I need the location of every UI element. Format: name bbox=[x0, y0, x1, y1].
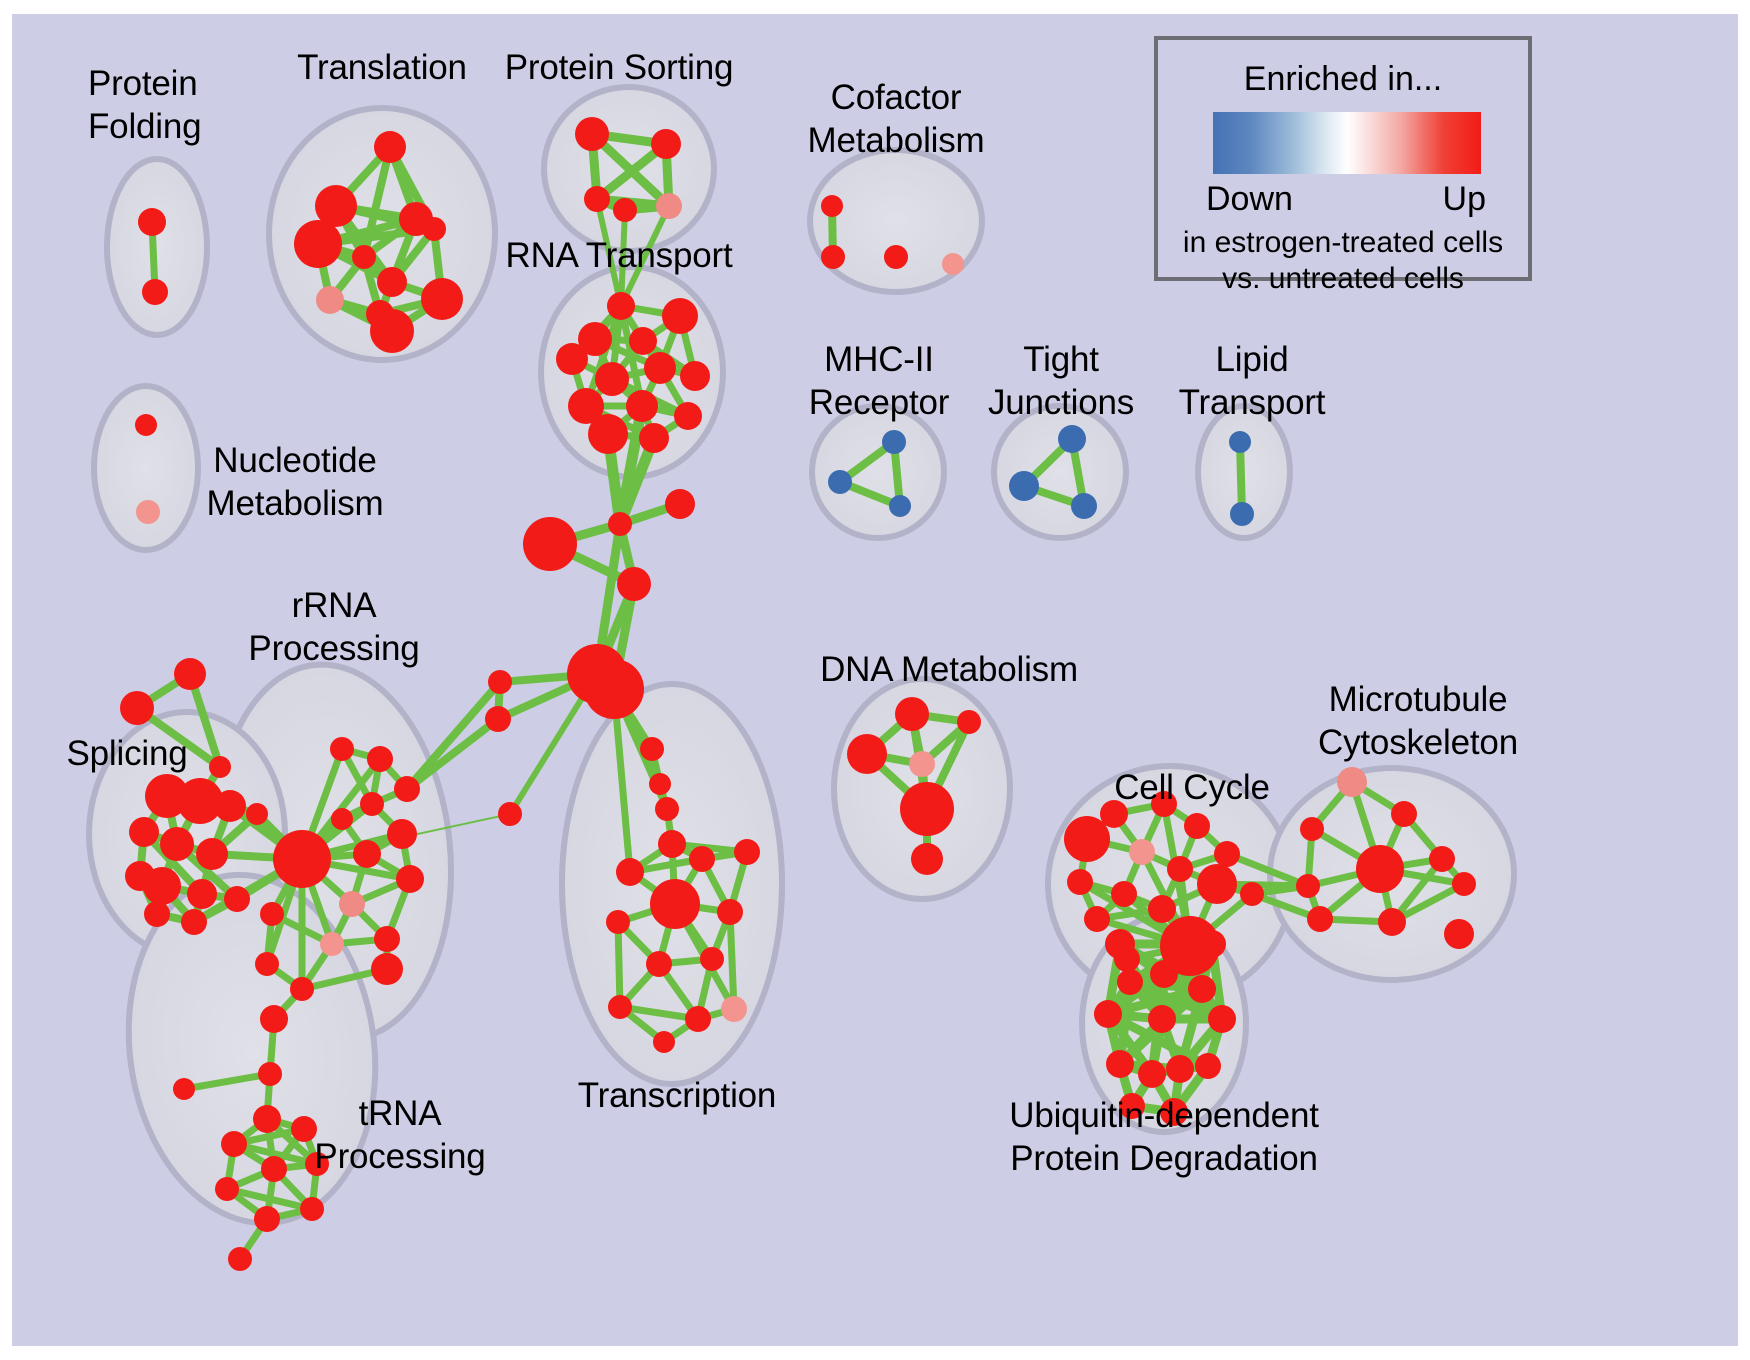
cluster-label-splicing: Splicing bbox=[67, 732, 188, 775]
node bbox=[608, 995, 632, 1019]
node bbox=[556, 343, 588, 375]
node bbox=[523, 517, 577, 571]
node bbox=[1064, 816, 1110, 862]
node bbox=[584, 186, 610, 212]
node bbox=[209, 756, 231, 778]
node bbox=[1188, 975, 1216, 1003]
node bbox=[616, 858, 644, 886]
node bbox=[942, 253, 964, 275]
node bbox=[1230, 502, 1254, 526]
node bbox=[224, 886, 250, 912]
node bbox=[221, 1131, 247, 1157]
node bbox=[689, 846, 715, 872]
node bbox=[821, 195, 843, 217]
node bbox=[339, 891, 365, 917]
node bbox=[658, 830, 686, 858]
node bbox=[1296, 874, 1320, 898]
node bbox=[1058, 425, 1086, 453]
node bbox=[136, 500, 160, 524]
node bbox=[488, 670, 512, 694]
node bbox=[316, 286, 344, 314]
node bbox=[300, 1197, 324, 1221]
cluster-label-ubiquitin-degradation: Ubiquitin-dependent Protein Degradation bbox=[1009, 1094, 1319, 1180]
node bbox=[261, 1156, 287, 1182]
cluster-label-translation: Translation bbox=[297, 46, 467, 89]
node bbox=[396, 865, 424, 893]
node bbox=[228, 1247, 252, 1271]
node bbox=[889, 495, 911, 517]
node bbox=[606, 910, 630, 934]
node bbox=[1429, 846, 1455, 872]
cluster-label-cofactor-metabolism: Cofactor Metabolism bbox=[808, 76, 985, 162]
node bbox=[142, 279, 168, 305]
node bbox=[821, 245, 845, 269]
node bbox=[1240, 882, 1264, 906]
node bbox=[1214, 841, 1240, 867]
node bbox=[291, 1116, 317, 1142]
node bbox=[882, 430, 906, 454]
legend-box: Enriched in... Down Up in estrogen-treat… bbox=[1154, 36, 1532, 281]
node bbox=[129, 817, 159, 847]
cluster-label-tight-junctions: Tight Junctions bbox=[988, 338, 1134, 424]
node bbox=[1009, 471, 1039, 501]
node bbox=[584, 659, 644, 719]
legend-subtitle-line2: vs. untreated cells bbox=[1158, 262, 1528, 296]
node bbox=[1150, 960, 1178, 988]
node bbox=[655, 797, 679, 821]
node bbox=[828, 470, 852, 494]
node bbox=[1229, 431, 1251, 453]
node bbox=[1184, 813, 1210, 839]
node bbox=[160, 827, 194, 861]
node bbox=[144, 901, 170, 927]
node bbox=[895, 697, 929, 731]
hull-nucleotide bbox=[94, 386, 198, 550]
cluster-label-dna-metabolism: DNA Metabolism bbox=[820, 648, 1078, 691]
node bbox=[258, 1062, 282, 1086]
node bbox=[290, 977, 314, 1001]
node bbox=[1444, 919, 1474, 949]
node bbox=[374, 926, 400, 952]
node bbox=[613, 198, 637, 222]
node bbox=[644, 352, 676, 384]
node bbox=[187, 879, 217, 909]
legend-subtitle-line1: in estrogen-treated cells bbox=[1158, 226, 1528, 260]
node bbox=[1208, 1005, 1236, 1033]
node bbox=[1378, 908, 1406, 936]
node bbox=[181, 909, 207, 935]
node bbox=[911, 843, 943, 875]
node bbox=[700, 947, 724, 971]
node bbox=[649, 773, 671, 795]
node bbox=[617, 567, 651, 601]
enrichment-map-figure: Protein Folding Translation Protein Sort… bbox=[0, 0, 1750, 1360]
node bbox=[1117, 969, 1143, 995]
hull-tight-junctions bbox=[994, 406, 1126, 538]
node bbox=[174, 658, 206, 690]
node bbox=[173, 1078, 195, 1100]
node bbox=[273, 830, 331, 888]
node bbox=[1106, 1050, 1134, 1078]
node bbox=[1067, 869, 1093, 895]
node bbox=[847, 734, 887, 774]
node bbox=[607, 292, 635, 320]
cluster-label-protein-folding: Protein Folding bbox=[88, 62, 201, 148]
node bbox=[320, 932, 344, 956]
legend-title: Enriched in... bbox=[1158, 60, 1528, 99]
node bbox=[422, 217, 446, 241]
node bbox=[626, 390, 658, 422]
node bbox=[1071, 493, 1097, 519]
node bbox=[138, 208, 166, 236]
node bbox=[1300, 817, 1324, 841]
node bbox=[650, 879, 700, 929]
legend-high-label: Up bbox=[1443, 180, 1486, 219]
node bbox=[1148, 1005, 1176, 1033]
legend-gradient-bar bbox=[1213, 112, 1481, 174]
node bbox=[884, 245, 908, 269]
cluster-label-cell-cycle: Cell Cycle bbox=[1114, 766, 1270, 809]
node bbox=[665, 489, 695, 519]
node bbox=[680, 361, 710, 391]
hull-protein-folding bbox=[107, 159, 207, 335]
node bbox=[387, 819, 417, 849]
cluster-label-protein-sorting: Protein Sorting bbox=[505, 46, 734, 89]
node bbox=[1337, 767, 1367, 797]
node bbox=[674, 402, 702, 430]
cluster-label-rrna-processing: rRNA Processing bbox=[248, 584, 419, 670]
node bbox=[370, 309, 414, 353]
node bbox=[135, 414, 157, 436]
node bbox=[330, 737, 354, 761]
node bbox=[639, 423, 669, 453]
node bbox=[1195, 1053, 1221, 1079]
node bbox=[1148, 895, 1176, 923]
node bbox=[1307, 906, 1333, 932]
node bbox=[1166, 1055, 1194, 1083]
node bbox=[331, 808, 353, 830]
node bbox=[734, 839, 760, 865]
node bbox=[421, 278, 463, 320]
node bbox=[1111, 881, 1137, 907]
node bbox=[367, 746, 393, 772]
node bbox=[1198, 930, 1226, 958]
node bbox=[653, 1031, 675, 1053]
node bbox=[1084, 906, 1110, 932]
node bbox=[957, 710, 981, 734]
node bbox=[1129, 839, 1155, 865]
node bbox=[900, 782, 954, 836]
node bbox=[651, 129, 681, 159]
node bbox=[498, 802, 522, 826]
node bbox=[640, 737, 664, 761]
node bbox=[255, 952, 279, 976]
cluster-label-nucleotide-metabolism: Nucleotide Metabolism bbox=[207, 439, 384, 525]
node bbox=[253, 1105, 281, 1133]
node bbox=[588, 414, 628, 454]
node bbox=[485, 706, 511, 732]
node bbox=[909, 751, 935, 777]
node bbox=[1197, 864, 1237, 904]
node bbox=[1167, 856, 1193, 882]
node bbox=[1138, 1060, 1166, 1088]
node bbox=[575, 117, 609, 151]
cluster-label-microtubule-cytoskeleton: Microtubule Cytoskeleton bbox=[1318, 678, 1518, 764]
node bbox=[120, 691, 154, 725]
node bbox=[1105, 929, 1135, 959]
node bbox=[353, 840, 381, 868]
node bbox=[294, 220, 342, 268]
node bbox=[352, 245, 376, 269]
node bbox=[246, 803, 268, 825]
node bbox=[1356, 845, 1404, 893]
cluster-label-lipid-transport: Lipid Transport bbox=[1179, 338, 1326, 424]
node bbox=[214, 790, 246, 822]
node bbox=[685, 1006, 711, 1032]
node bbox=[260, 1005, 288, 1033]
node bbox=[721, 996, 747, 1022]
node bbox=[656, 193, 682, 219]
hull-mhcii bbox=[812, 406, 944, 538]
node bbox=[254, 1206, 280, 1232]
node bbox=[394, 776, 420, 802]
cluster-label-mhc-ii-receptor: MHC-II Receptor bbox=[809, 338, 949, 424]
node bbox=[196, 838, 228, 870]
node bbox=[717, 899, 743, 925]
node bbox=[215, 1177, 239, 1201]
node bbox=[1094, 1000, 1122, 1028]
node bbox=[143, 867, 181, 905]
node bbox=[1391, 801, 1417, 827]
node bbox=[377, 267, 407, 297]
node bbox=[260, 902, 284, 926]
node bbox=[1452, 872, 1476, 896]
legend-low-label: Down bbox=[1206, 180, 1293, 219]
node bbox=[595, 362, 629, 396]
node bbox=[608, 512, 632, 536]
node bbox=[662, 298, 698, 334]
node bbox=[646, 951, 672, 977]
network-canvas: Protein Folding Translation Protein Sort… bbox=[12, 14, 1738, 1346]
node bbox=[374, 131, 406, 163]
cluster-label-trna-processing: tRNA Processing bbox=[314, 1092, 485, 1178]
node bbox=[371, 953, 403, 985]
cluster-label-rna-transport: RNA Transport bbox=[506, 234, 733, 277]
node bbox=[629, 327, 657, 355]
node bbox=[360, 792, 384, 816]
cluster-label-transcription: Transcription bbox=[578, 1074, 776, 1117]
